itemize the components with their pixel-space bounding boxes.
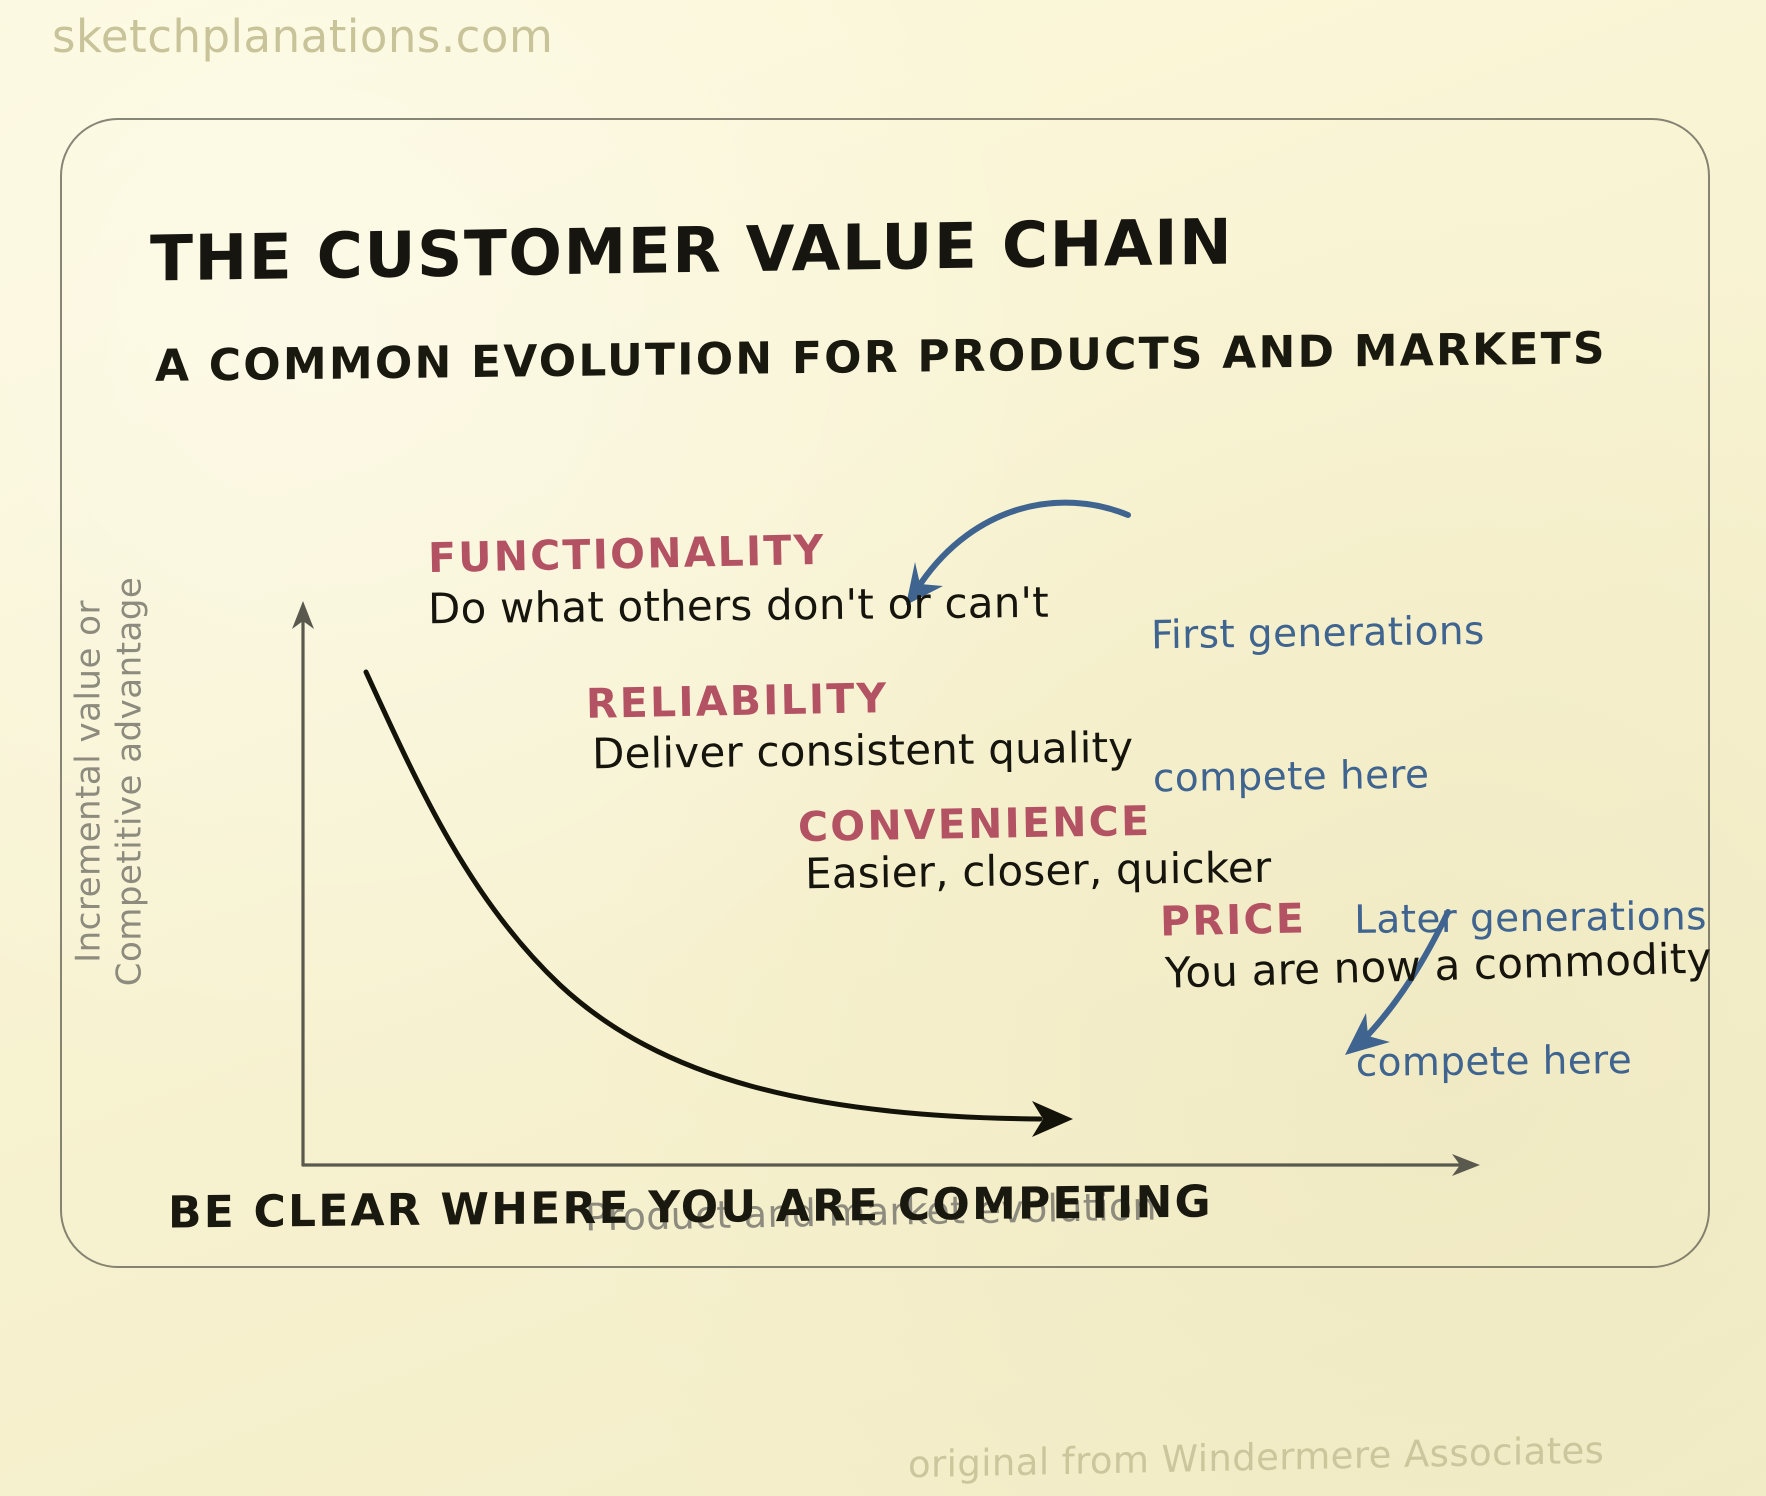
annotation-later-generations: Later generations compete here bbox=[1353, 798, 1710, 1182]
stage-heading-functionality: FUNCTIONALITY bbox=[428, 526, 826, 582]
stage-heading-reliability: RELIABILITY bbox=[586, 674, 889, 728]
annotation-first-generations-line1: First generations bbox=[1151, 608, 1485, 660]
annotation-later-generations-line1: Later generations bbox=[1354, 893, 1707, 944]
stage-heading-price: PRICE bbox=[1159, 894, 1306, 945]
value-chain-chart: Incremental value or Competitive advanta… bbox=[0, 0, 1766, 1496]
x-axis bbox=[303, 1154, 1480, 1176]
y-axis-label-line2: Competitive advantage bbox=[110, 571, 151, 991]
sketch-canvas: sketchplanations.com THE CUSTOMER VALUE … bbox=[0, 0, 1766, 1496]
annotation-later-generations-line2: compete here bbox=[1356, 1036, 1709, 1087]
stage-description-functionality: Do what others don't or can't bbox=[428, 578, 1049, 633]
annotation-first-generations-line2: compete here bbox=[1153, 751, 1487, 803]
y-axis bbox=[292, 601, 314, 1165]
y-axis-label: Incremental value or Competitive advanta… bbox=[69, 571, 152, 991]
stage-heading-convenience: CONVENIENCE bbox=[798, 797, 1152, 851]
y-axis-label-line1: Incremental value or bbox=[69, 571, 110, 991]
stage-description-reliability: Deliver consistent quality bbox=[592, 723, 1134, 779]
